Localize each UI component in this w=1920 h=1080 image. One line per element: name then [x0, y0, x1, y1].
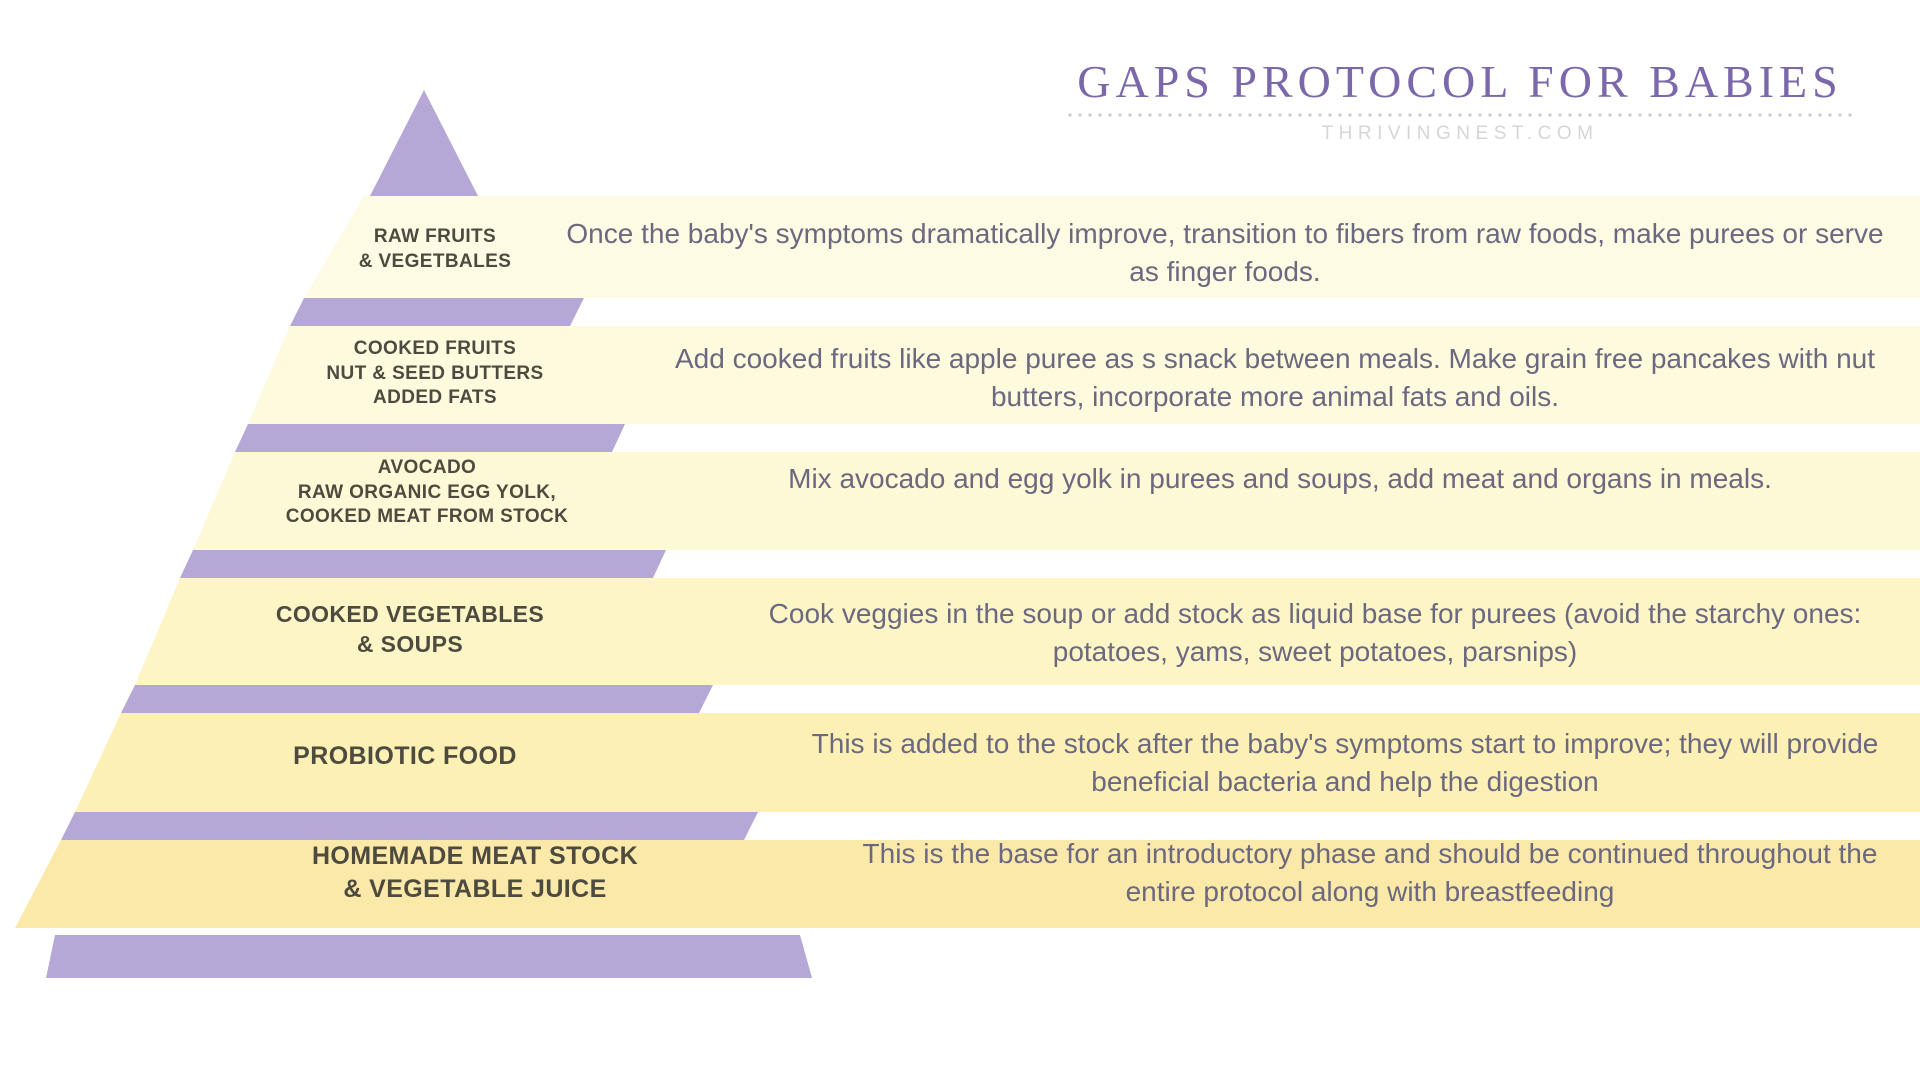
tier-label-1: RAW FRUITS & VEGETBALES [290, 225, 580, 274]
tier-divider-5 [61, 812, 758, 840]
pyramid-chart [0, 0, 1920, 1080]
tier-description-1: Once the baby's symptoms dramatically im… [560, 215, 1890, 290]
tier-label-6: HOMEMADE MEAT STOCK & VEGETABLE JUICE [110, 840, 840, 905]
tier-label-3: AVOCADO RAW ORGANIC EGG YOLK, COOKED MEA… [232, 456, 622, 530]
tier-divider-4 [121, 685, 713, 713]
tier-divider-1 [290, 298, 584, 326]
tier-description-5: This is added to the stock after the bab… [810, 725, 1880, 800]
pyramid-apex [370, 90, 478, 196]
tier-description-2: Add cooked fruits like apple puree as s … [660, 340, 1890, 415]
tier-label-4: COOKED VEGETABLES & SOUPS [190, 600, 630, 660]
tier-description-4: Cook veggies in the soup or add stock as… [750, 595, 1880, 670]
infographic-canvas: GAPS PROTOCOL FOR BABIES THRIVINGNEST.CO… [0, 0, 1920, 1080]
tier-description-3: Mix avocado and egg yolk in purees and s… [690, 460, 1870, 498]
tier-divider-2 [235, 424, 625, 452]
pyramid-base-bar [46, 935, 812, 978]
tier-description-6: This is the base for an introductory pha… [860, 835, 1880, 910]
tier-label-2: COOKED FRUITS NUT & SEED BUTTERS ADDED F… [270, 337, 600, 411]
tier-label-5: PROBIOTIC FOOD [140, 740, 670, 773]
tier-divider-3 [180, 550, 666, 578]
